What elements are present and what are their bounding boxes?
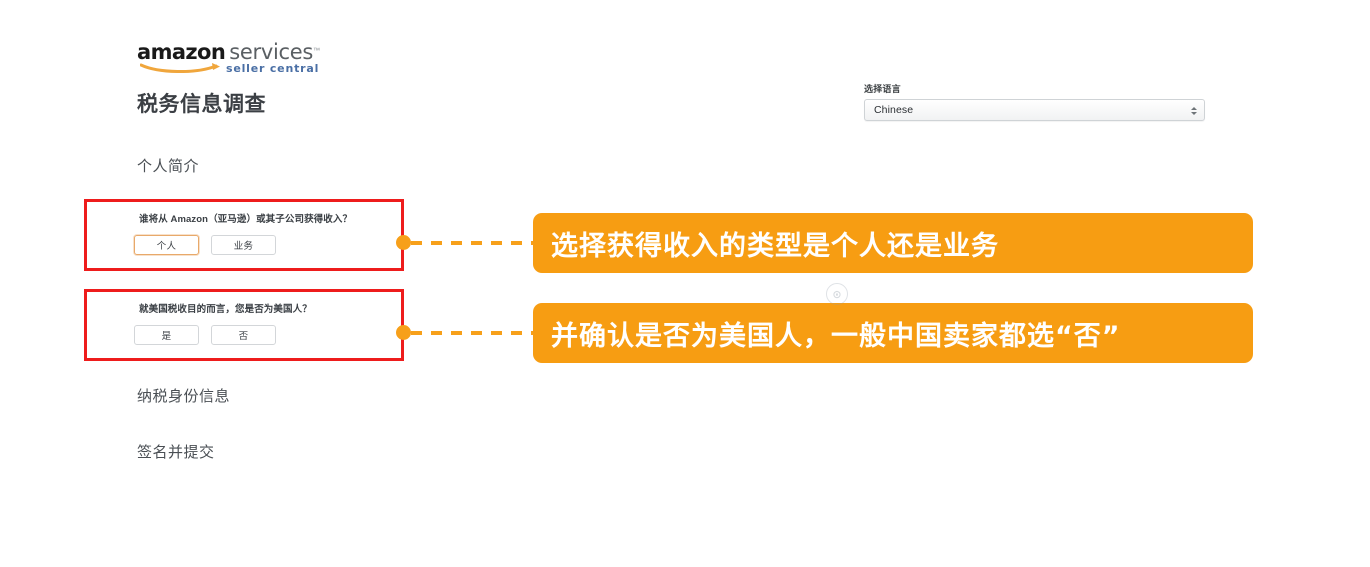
option-no-button[interactable]: 否 bbox=[211, 325, 276, 345]
logo-services-text: services bbox=[229, 42, 313, 63]
annotation-connector-line-2 bbox=[411, 331, 535, 335]
logo-trademark-icon: ™ bbox=[313, 48, 320, 55]
amazon-swoosh-icon bbox=[140, 61, 226, 73]
option-business-button[interactable]: 业务 bbox=[211, 235, 276, 255]
question-1-options: 个人 业务 bbox=[134, 235, 276, 255]
option-yes-button[interactable]: 是 bbox=[134, 325, 199, 345]
question-2-options: 是 否 bbox=[134, 325, 276, 345]
amazon-services-seller-central-logo: amazonservices™ seller central bbox=[137, 42, 337, 76]
question-card-us-person: 就美国税收目的而言，您是否为美国人？ 是 否 bbox=[84, 289, 404, 361]
question-2-text: 就美国税收目的而言，您是否为美国人？ bbox=[139, 301, 312, 315]
logo-amazon-text: amazon bbox=[137, 42, 225, 63]
tax-interview-page: amazonservices™ seller central 税务信息调查 选择… bbox=[0, 0, 1370, 567]
annotation-banner-2: 并确认是否为美国人，一般中国卖家都选“否” bbox=[533, 303, 1253, 363]
language-selector-label: 选择语言 bbox=[864, 82, 1205, 95]
language-select[interactable]: Chinese bbox=[864, 99, 1205, 121]
page-title: 税务信息调查 bbox=[137, 88, 266, 118]
annotation-anchor-dot-2 bbox=[396, 325, 411, 340]
section-heading-sign-submit: 签名并提交 bbox=[137, 441, 215, 462]
annotation-connector-line-1 bbox=[411, 241, 535, 245]
section-heading-tax-identity: 纳税身份信息 bbox=[137, 385, 230, 406]
annotation-banner-1-text: 选择获得收入的类型是个人还是业务 bbox=[551, 224, 999, 263]
logo-seller-central-text: seller central bbox=[226, 62, 319, 75]
question-card-income-recipient: 谁将从 Amazon（亚马逊）或其子公司获得收入？ 个人 业务 bbox=[84, 199, 404, 271]
annotation-anchor-dot-1 bbox=[396, 235, 411, 250]
annotation-banner-2-text: 并确认是否为美国人，一般中国卖家都选“否” bbox=[551, 314, 1121, 353]
language-select-value: Chinese bbox=[874, 104, 913, 116]
option-individual-button[interactable]: 个人 bbox=[134, 235, 199, 255]
annotation-banner-1: 选择获得收入的类型是个人还是业务 bbox=[533, 213, 1253, 273]
question-1-text: 谁将从 Amazon（亚马逊）或其子公司获得收入？ bbox=[139, 211, 352, 225]
watermark-icon: ⊙ bbox=[826, 283, 848, 305]
select-updown-arrows-icon bbox=[1190, 104, 1197, 118]
section-heading-profile: 个人简介 bbox=[137, 155, 199, 176]
language-selector-group: 选择语言 Chinese bbox=[864, 82, 1205, 121]
